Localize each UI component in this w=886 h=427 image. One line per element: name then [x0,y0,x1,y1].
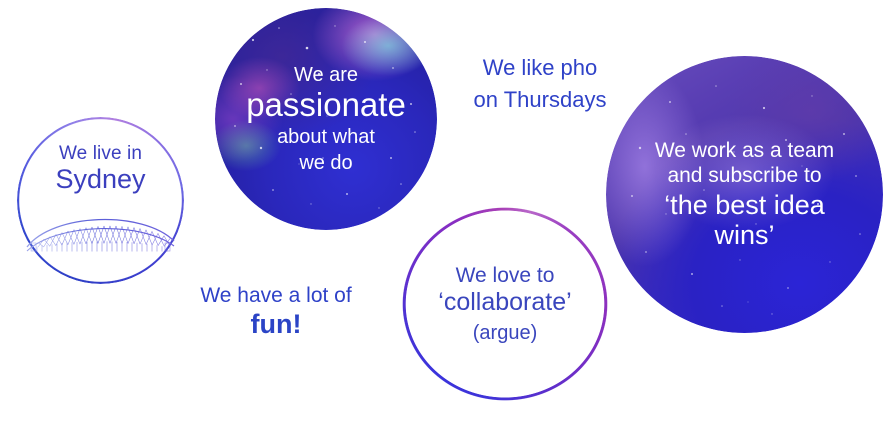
passionate-line-2: passionate [246,87,406,124]
team-text-block: We work as a team and subscribe to ‘the … [606,56,883,333]
passionate-line-1: We are [294,64,358,86]
value-circle-collaborate: We love to ‘collaborate’ (argue) [402,207,608,401]
value-circle-team: We work as a team and subscribe to ‘the … [606,56,883,333]
collaborate-line-3: (argue) [473,322,537,344]
passionate-line-4: we do [299,152,352,174]
sydney-line-1: We live in [17,143,184,165]
team-line-1: We work as a team [655,139,834,163]
sydney-harbour-bridge-icon [23,205,178,261]
team-line-2: and subscribe to [667,164,821,188]
collaborate-line-2: ‘collaborate’ [438,288,571,316]
collaborate-line-1: We love to [456,264,555,288]
fun-line-2: fun! [178,309,374,340]
value-text-pho: We like pho on Thursdays [455,52,625,116]
team-line-3: ‘the best idea [664,190,825,220]
collaborate-text-block: We love to ‘collaborate’ (argue) [402,207,608,401]
value-circle-sydney: We live in Sydney [17,117,184,284]
value-text-fun: We have a lot of fun! [178,284,374,340]
sydney-text-block: We live in Sydney [17,143,184,195]
pho-line-2: on Thursdays [455,84,625,116]
fun-line-1: We have a lot of [178,284,374,308]
values-graphic-canvas: We live in Sydney [0,0,886,427]
passionate-line-3: about what [277,126,375,148]
passionate-text-block: We are passionate about what we do [215,8,437,230]
sydney-line-2: Sydney [17,164,184,195]
team-line-4: wins’ [714,220,774,250]
value-circle-passionate: We are passionate about what we do [215,8,437,230]
pho-line-1: We like pho [455,52,625,84]
